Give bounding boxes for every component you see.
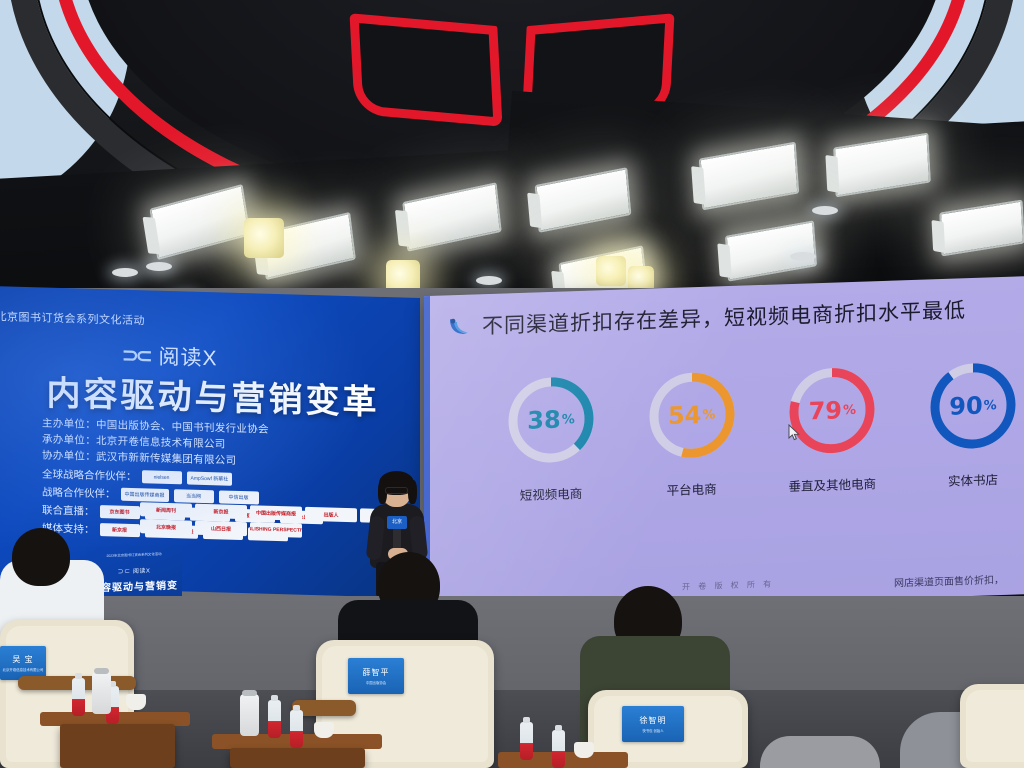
donut-gauge: 38% (503, 370, 599, 469)
donut-value: 90% (925, 356, 1021, 455)
partner-logo-chip: 中国出版传媒商报 (121, 488, 169, 502)
banner-logo-text: 阅读X (159, 341, 218, 373)
donut-value: 79% (784, 361, 880, 460)
nameplate-3-sub: 快书包 创始人 (642, 728, 663, 733)
placard-subtitle: 2023年北京图书订货会系列文化活动 (90, 550, 178, 558)
partner-logo-chip: 当当网 (174, 489, 214, 503)
media-logo-tile: PUBLISHING PERSPECTIVES (250, 522, 302, 537)
paper-cup (126, 694, 146, 710)
banner-partner-row-3: 媒体支持：新京报中国新闻出版广电报出版人北京日报 (42, 520, 372, 544)
banner-partner-row-1: 战略合作伙伴：中国出版传媒商报当当网中信出版 (42, 484, 372, 508)
ceiling-downlight (812, 206, 838, 215)
partner-logo-chip: 机械工业出版社 (280, 510, 323, 524)
banner-subtitle: 年北京图书订货会系列文化活动 (0, 308, 145, 328)
media-logo-tile: 新京报 (195, 504, 247, 519)
banner-title: 内容驱动与营销变革 (28, 365, 398, 424)
partner-logo-chip: 中国新闻出版广电报 (145, 524, 198, 538)
donut-item-3: 90%实体书店 (914, 356, 1024, 491)
donut-number: 90 (949, 392, 982, 421)
donut-gauge: 90% (925, 356, 1021, 455)
water-bottle (72, 678, 85, 716)
nameplate-3: 徐智明 快书包 创始人 (622, 706, 684, 742)
media-logo-tile: 北京晚报 (140, 519, 192, 534)
water-bottle (268, 700, 281, 738)
donut-category-label: 垂直及其他电商 (773, 473, 891, 496)
partner-logo-chip: 京东图书 (100, 505, 140, 519)
donut-category-label: 实体书店 (914, 468, 1024, 491)
ceiling-downlight (790, 252, 816, 261)
nameplate-2-sub: 中国出版协会 (366, 680, 386, 685)
thermos-flask (240, 694, 259, 736)
media-logo-tile: 山西日报 (195, 521, 247, 536)
banner-logo: ⊃⊂ 阅读X (122, 340, 218, 373)
percent-sign: % (843, 402, 856, 417)
ceiling-downlight (112, 268, 138, 277)
wave-swoosh-logo-icon (446, 313, 472, 340)
nameplate-1: 吴 宝 北京开卷信息技术有限公司 (0, 646, 46, 680)
donut-number: 38 (527, 406, 560, 435)
presentation-screen: 不同渠道折扣存在差异，短视频电商折扣水平最低 38%短视频电商54%平台电商79… (424, 276, 1024, 628)
banner-partner-label: 战略合作伙伴： (42, 484, 116, 501)
slide-copyright: 开 卷 版 权 所 有 (682, 579, 774, 593)
paper-cup (314, 722, 334, 738)
studio-spotlight (596, 256, 626, 286)
percent-sign: % (702, 407, 715, 422)
media-logo-tile: 中国出版传媒商报 (250, 505, 302, 520)
donut-value: 54% (644, 366, 740, 465)
partner-logo-chip: 出版商务周报 (235, 509, 275, 523)
banner-line-2: 协办单位：武汉市新新传媒集团有限公司 (42, 447, 372, 472)
water-bottle (290, 710, 303, 748)
banner-partner-row-2: 联合直播：京东图书当当读书出版人出版商务周报机械工业出版社 (42, 502, 372, 526)
partner-logo-chip: nielsen (142, 470, 182, 484)
microphone-flag-label: 北京 (387, 516, 407, 529)
donut-chart-group: 38%短视频电商54%平台电商79%垂直及其他电商90%实体书店 (492, 356, 1024, 505)
ceiling-downlight (476, 276, 502, 285)
eyeglasses-icon (385, 487, 408, 494)
partner-logo-chip: 出版人 (203, 526, 243, 540)
side-table-2 (230, 748, 365, 768)
partner-logo-chip: 北京日报 (248, 527, 288, 541)
media-logo-tile: 新闻周刊 (140, 502, 192, 517)
slide-footnote: 网店渠道页面售价折扣， (894, 571, 1004, 590)
percent-sign: % (562, 412, 575, 427)
partner-logo-chip: 中信出版 (219, 490, 259, 504)
donut-item-0: 38%短视频电商 (492, 370, 610, 505)
audience-person-5 (760, 736, 880, 768)
nameplate-1-name: 吴 宝 (12, 654, 33, 665)
banner-partner-label: 全球战略合作伙伴： (42, 466, 137, 484)
partner-logo-chip: AmpSowf 新華社 (187, 471, 233, 485)
thermos-flask (92, 672, 111, 714)
reading-x-mark-icon: ⊃⊂ (122, 342, 150, 368)
donut-number: 54 (668, 401, 701, 430)
ceiling-downlight (146, 262, 172, 271)
water-bottle (552, 730, 565, 768)
partner-logo-chip: 出版人 (190, 508, 230, 522)
audience-person-1-head (12, 528, 70, 586)
partner-logo-chip: 新京报 (100, 523, 140, 537)
banner-organizer-lines: 主办单位：中国出版协会、中国书刊发行业协会承办单位：北京开卷信息技术有限公司协办… (42, 415, 372, 544)
microphone-flag: 北京 (387, 516, 407, 529)
conference-hall-photo: 年北京图书订货会系列文化活动 ⊃⊂ 阅读X 内容驱动与营销变革 主办单位：中国出… (0, 0, 1024, 768)
donut-category-label: 短视频电商 (492, 482, 610, 505)
percent-sign: % (984, 398, 997, 413)
nameplate-1-sub: 北京开卷信息技术有限公司 (3, 667, 44, 672)
studio-spotlight (244, 218, 284, 258)
partner-logo-chip: 当当读书 (145, 506, 185, 520)
banner-line-0: 主办单位：中国出版协会、中国书刊发行业协会 (42, 415, 372, 440)
nameplate-2: 薛智平 中国出版协会 (348, 658, 404, 694)
donut-category-label: 平台电商 (633, 477, 751, 500)
nameplate-3-name: 徐智明 (640, 715, 667, 726)
side-table-1 (60, 724, 175, 768)
nameplate-2-name: 薛智平 (363, 667, 390, 678)
banner-partner-row-0: 全球战略合作伙伴：nielsenAmpSowf 新華社 (42, 466, 372, 490)
donut-gauge: 54% (644, 366, 740, 465)
banner-line-1: 承办单位：北京开卷信息技术有限公司 (42, 431, 372, 456)
donut-gauge: 79% (784, 361, 880, 460)
chair-4 (960, 684, 1024, 768)
mouse-cursor-icon (788, 424, 800, 441)
paper-cup (574, 742, 594, 758)
slide-header: 不同渠道折扣存在差异，短视频电商折扣水平最低 (446, 292, 1024, 341)
slide-title: 不同渠道折扣存在差异，短视频电商折扣水平最低 (482, 294, 966, 340)
donut-value: 38% (503, 370, 599, 469)
donut-number: 79 (809, 396, 842, 425)
banner-partner-label: 联合直播： (42, 502, 95, 518)
water-bottle (520, 722, 533, 760)
media-logo-tile: 出版人 (305, 507, 357, 522)
donut-item-1: 54%平台电商 (633, 365, 751, 500)
